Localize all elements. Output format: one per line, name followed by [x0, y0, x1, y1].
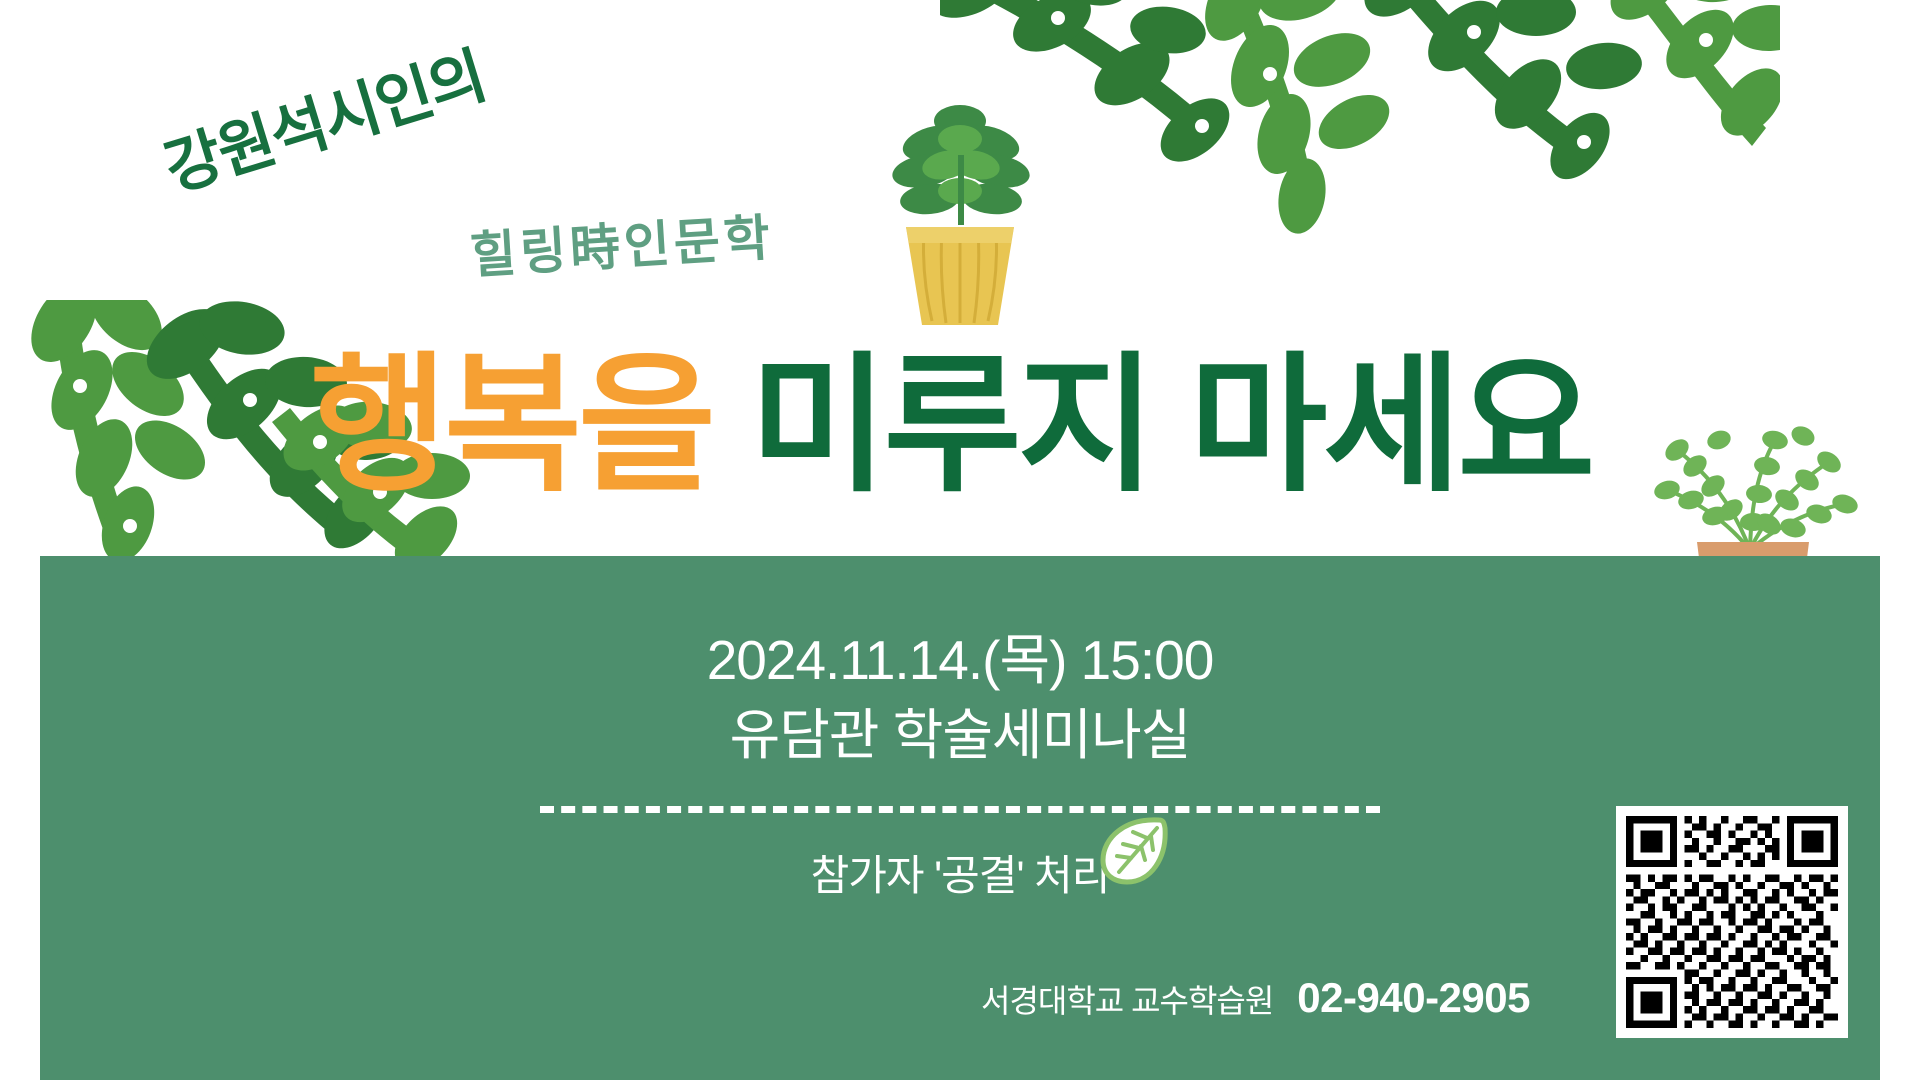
presenter-line: 강원석시인의: [152, 25, 494, 208]
organization-name: 서경대학교 교수학습원: [981, 976, 1273, 1022]
event-date: 2024.11.14.(목) 15:00: [40, 626, 1880, 695]
qr-code-image: [1626, 816, 1838, 1028]
info-panel-content: 2024.11.14.(목) 15:00 유담관 학술세미나실 참가자 '공결'…: [40, 556, 1880, 903]
footer: 서경대학교 교수학습원 02-940-2905: [981, 974, 1530, 1022]
program-line: 힐링時인문학: [468, 198, 776, 288]
title-part-happiness: 행복을: [310, 341, 712, 509]
potted-plant-top: [880, 95, 1040, 340]
contact-phone: 02-940-2905: [1297, 974, 1530, 1022]
leaf-icon: [1095, 808, 1173, 886]
title-part-dont-postpone: 미루지 마세요: [712, 341, 1591, 509]
attendance-note-row: 참가자 '공결' 처리: [811, 842, 1110, 903]
branch-decoration-top-right: [940, 0, 1780, 310]
qr-code[interactable]: [1616, 806, 1848, 1038]
attendance-note: 참가자 '공결' 처리: [811, 852, 1110, 899]
dashed-divider: [540, 806, 1380, 816]
page-title: 행복을 미루지 마세요: [310, 350, 1591, 500]
poster-canvas: 강원석시인의 힐링時인문학 행복을 미루지 마세요 2024.11.14.(목)…: [0, 0, 1920, 1080]
divider-line: [540, 806, 1380, 813]
event-venue: 유담관 학술세미나실: [40, 701, 1880, 770]
